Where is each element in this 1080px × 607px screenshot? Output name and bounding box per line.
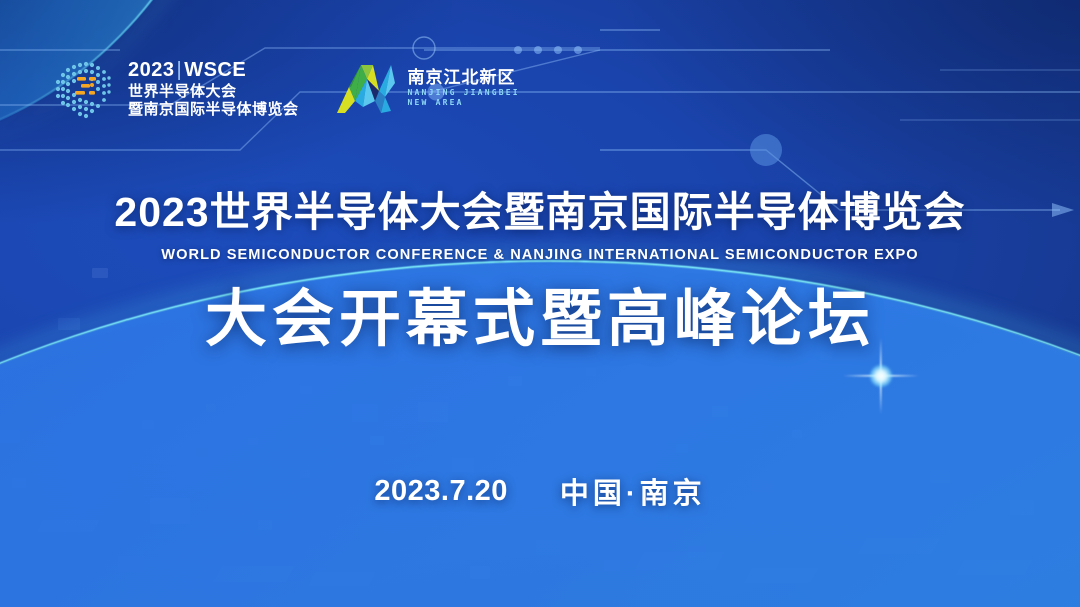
conference-banner: 2023|WSCE 世界半导体大会 暨南京国际半导体博览会 — [0, 0, 1080, 607]
event-date: 2023.7.20 — [374, 475, 508, 508]
jiangbei-logo-text: 南京江北新区 NANJING JIANGBEI NEW AREA — [408, 69, 520, 107]
nanjing-jiangbei-n-mark-icon — [333, 57, 399, 119]
wsce-logo-abbr: WSCE — [184, 59, 246, 81]
wsce-logo-year: 2023 — [128, 59, 175, 81]
wsce-logo-cn-line1: 世界半导体大会 — [128, 84, 299, 99]
subheadline: 大会开幕式暨高峰论坛 — [0, 268, 1080, 358]
jiangbei-logo: 南京江北新区 NANJING JIANGBEI NEW AREA — [333, 57, 520, 119]
wsce-logo-separator: | — [175, 59, 185, 81]
wsce-logo-text: 2023|WSCE 世界半导体大会 暨南京国际半导体博览会 — [128, 60, 299, 117]
jiangbei-name-cn: 南京江北新区 — [408, 69, 520, 86]
wsce-logo: 2023|WSCE 世界半导体大会 暨南京国际半导体博览会 — [48, 52, 299, 124]
headline-block: 2023世界半导体大会暨南京国际半导体博览会 WORLD SEMICONDUCT… — [0, 178, 1080, 263]
page-title-english: WORLD SEMICONDUCTOR CONFERENCE & NANJING… — [0, 247, 1080, 263]
subheadline-block: 大会开幕式暨高峰论坛 — [0, 268, 1080, 358]
jiangbei-name-en-line1: NANJING JIANGBEI — [408, 89, 520, 97]
event-meta-row: 2023.7.20 中国·南京 — [0, 470, 1080, 512]
logo-row: 2023|WSCE 世界半导体大会 暨南京国际半导体博览会 — [48, 52, 520, 124]
page-title: 2023世界半导体大会暨南京国际半导体博览会 — [0, 178, 1080, 238]
wsce-logo-cn-line2: 暨南京国际半导体博览会 — [128, 102, 299, 117]
jiangbei-name-en-line2: NEW AREA — [408, 99, 520, 107]
event-location: 中国·南京 — [560, 470, 706, 512]
wsce-globe-hand-logo-icon — [48, 52, 116, 124]
